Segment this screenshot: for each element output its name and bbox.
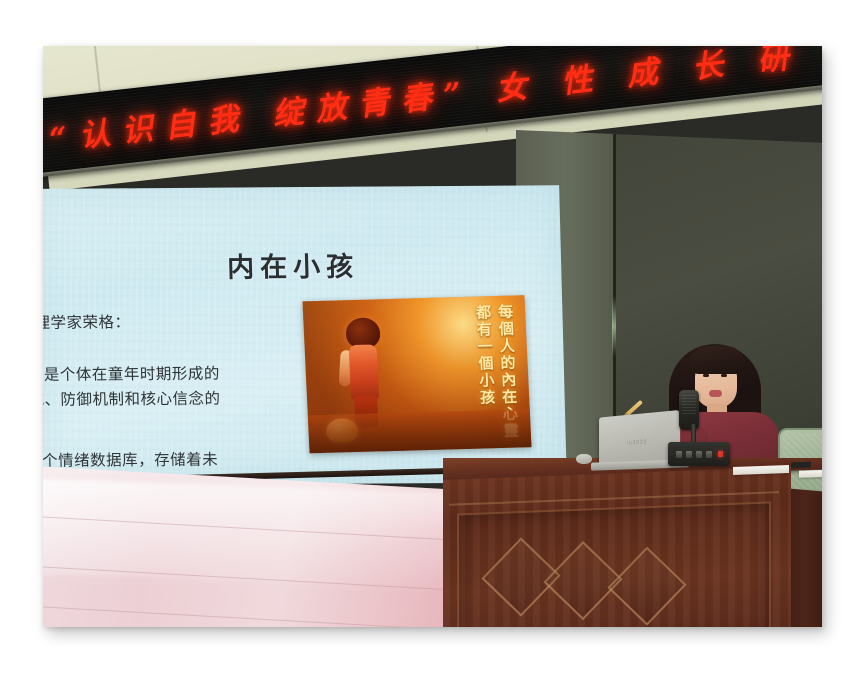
mic-button: [676, 451, 682, 458]
presenter-eye-right: [721, 374, 727, 377]
mic-indicator-light: [718, 451, 723, 457]
slide-illustration: 每個人的內在心靈 都有一個小孩: [302, 295, 531, 453]
slide-line: 。: [43, 412, 222, 438]
presenter-fringe: [689, 346, 745, 374]
laptop-logo: \u2022: [627, 439, 647, 446]
slide-line: 小孩是个体在童年时期形成的: [43, 362, 220, 388]
presenter-eye-left: [703, 374, 709, 377]
seminar-photograph: “认识自我 绽放青春” 女 性 成 长 研 内在小孩 心理学家荣格： 小孩是个体…: [43, 46, 822, 627]
podium: [443, 458, 822, 627]
computer-mouse: [576, 454, 592, 464]
paper-stack: [799, 469, 822, 478]
slide-paragraph-2: 小孩是个体在童年时期形成的 模式、防御机制和核心信念的 。: [43, 362, 222, 438]
floor-reflection: [43, 479, 454, 589]
child-figure-legs: [354, 395, 378, 428]
phone-on-desk: [791, 462, 811, 469]
mic-button: [706, 451, 712, 458]
wall-light-strip: [612, 296, 616, 356]
presenter-mouth: [709, 390, 722, 397]
photo-frame: “认识自我 绽放青春” 女 性 成 长 研 内在小孩 心理学家荣格： 小孩是个体…: [43, 46, 822, 627]
slide-paragraph-1: 心理学家荣格：: [43, 310, 131, 336]
slide-line: 模式、防御机制和核心信念的: [43, 387, 221, 413]
mic-button: [696, 451, 702, 458]
microphone-head: [679, 390, 699, 430]
mic-button: [686, 451, 692, 458]
child-figure-body: [349, 344, 380, 400]
illustration-caption-column-1: 每個人的內在心靈: [495, 303, 522, 439]
projection-screen: 内在小孩 心理学家荣格： 小孩是个体在童年时期形成的 模式、防御机制和核心信念的…: [43, 185, 567, 486]
podium-front-panel: [443, 467, 791, 627]
slide-title: 内在小孩: [227, 245, 360, 285]
slide-line: 心理学家荣格：: [43, 313, 131, 332]
toy-object: [326, 418, 358, 443]
microphone-control-unit: [668, 442, 730, 466]
